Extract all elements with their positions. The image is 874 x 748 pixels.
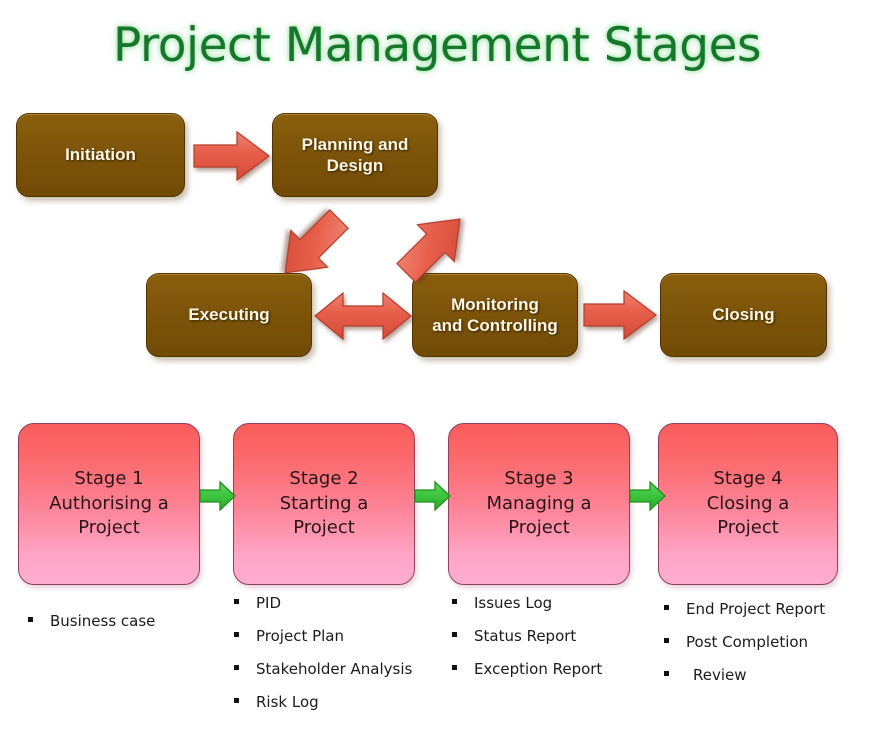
stage-label-line3: Project	[508, 517, 570, 538]
list-item-label: PID	[256, 594, 281, 612]
process-box-label-line1: Planning and	[302, 135, 409, 154]
stage-box-stage-1[interactable]: Stage 1 Authorising a Project	[18, 423, 200, 585]
arrow-initiation-to-planning	[192, 128, 272, 184]
stage-label-line2: Closing a	[707, 493, 790, 514]
list-item-label: Risk Log	[256, 693, 319, 711]
bullet-square-icon	[234, 599, 239, 604]
arrow-monitoring-to-closing	[582, 288, 660, 344]
bullet-square-icon	[234, 698, 239, 703]
stage-box-label: Stage 3 Managing a Project	[486, 467, 591, 541]
stage-label-line2: Authorising a	[49, 493, 169, 514]
stage-label-line2: Starting a	[280, 493, 369, 514]
process-box-label: Initiation	[65, 144, 136, 165]
list-item: Stakeholder Analysis	[234, 660, 444, 678]
list-item-label: Status Report	[474, 627, 576, 645]
page-title: Project Management Stages	[0, 18, 874, 73]
stage-label-line1: Stage 3	[504, 468, 573, 489]
list-item: Business case	[28, 612, 228, 630]
list-item: Issues Log	[452, 594, 662, 612]
list-item: End Project Report	[664, 600, 874, 618]
deliverables-column-4: End Project Report Post Completion Revie…	[664, 600, 874, 699]
bullet-square-icon	[234, 665, 239, 670]
list-item-label: Review	[693, 666, 747, 684]
arrow-stage-3-to-4	[629, 479, 667, 513]
stage-label-line1: Stage 4	[713, 468, 782, 489]
process-box-label-line2: and Controlling	[432, 316, 558, 335]
stage-label-line1: Stage 1	[74, 468, 143, 489]
diagram-canvas: Project Management Stages Initiation Pla…	[0, 0, 874, 748]
list-item-label: Exception Report	[474, 660, 602, 678]
list-item: Risk Log	[234, 693, 444, 711]
list-item-label: Post Completion	[686, 633, 808, 651]
stage-box-stage-4[interactable]: Stage 4 Closing a Project	[658, 423, 838, 585]
list-item: Exception Report	[452, 660, 662, 678]
bullet-square-icon	[452, 665, 457, 670]
list-item-label: Project Plan	[256, 627, 344, 645]
bullet-square-icon	[664, 638, 669, 643]
stage-label-line3: Project	[717, 517, 779, 538]
stage-box-label: Stage 2 Starting a Project	[280, 467, 369, 541]
list-item: Status Report	[452, 627, 662, 645]
arrow-monitoring-to-planning	[383, 196, 493, 286]
bullet-square-icon	[234, 632, 239, 637]
bullet-square-icon	[452, 599, 457, 604]
bullet-square-icon	[664, 605, 669, 610]
process-box-label: Monitoring and Controlling	[432, 294, 558, 337]
deliverables-column-2: PID Project Plan Stakeholder Analysis Ri…	[234, 594, 444, 726]
list-item: Review	[664, 666, 874, 684]
deliverables-column-1: Business case	[28, 612, 228, 645]
process-box-label: Closing	[712, 304, 774, 325]
stage-box-stage-3[interactable]: Stage 3 Managing a Project	[448, 423, 630, 585]
stage-label-line3: Project	[293, 517, 355, 538]
process-box-label-line1: Monitoring	[451, 295, 539, 314]
bullet-square-icon	[28, 617, 33, 622]
stage-label-line1: Stage 2	[289, 468, 358, 489]
process-box-label: Executing	[188, 304, 269, 325]
process-box-closing[interactable]: Closing	[660, 273, 827, 357]
arrow-stage-2-to-3	[414, 479, 452, 513]
list-item: Project Plan	[234, 627, 444, 645]
bullet-square-icon	[664, 671, 669, 676]
list-item-label: End Project Report	[686, 600, 825, 618]
stage-box-label: Stage 1 Authorising a Project	[49, 467, 169, 541]
process-box-planning-and-design[interactable]: Planning and Design	[272, 113, 438, 197]
process-box-label-line2: Design	[327, 156, 384, 175]
stage-box-label: Stage 4 Closing a Project	[707, 467, 790, 541]
arrow-executing-monitoring-bidirectional	[312, 288, 414, 344]
arrow-planning-to-executing	[262, 196, 372, 286]
list-item: PID	[234, 594, 444, 612]
list-item-label: Stakeholder Analysis	[256, 660, 412, 678]
bullet-square-icon	[452, 632, 457, 637]
arrow-stage-1-to-2	[199, 479, 237, 513]
stage-label-line3: Project	[78, 517, 140, 538]
list-item-label: Issues Log	[474, 594, 552, 612]
process-box-initiation[interactable]: Initiation	[16, 113, 185, 197]
deliverables-column-3: Issues Log Status Report Exception Repor…	[452, 594, 662, 693]
stage-label-line2: Managing a	[486, 493, 591, 514]
list-item: Post Completion	[664, 633, 874, 651]
process-box-label: Planning and Design	[302, 134, 409, 177]
list-item-label: Business case	[50, 612, 155, 630]
stage-box-stage-2[interactable]: Stage 2 Starting a Project	[233, 423, 415, 585]
